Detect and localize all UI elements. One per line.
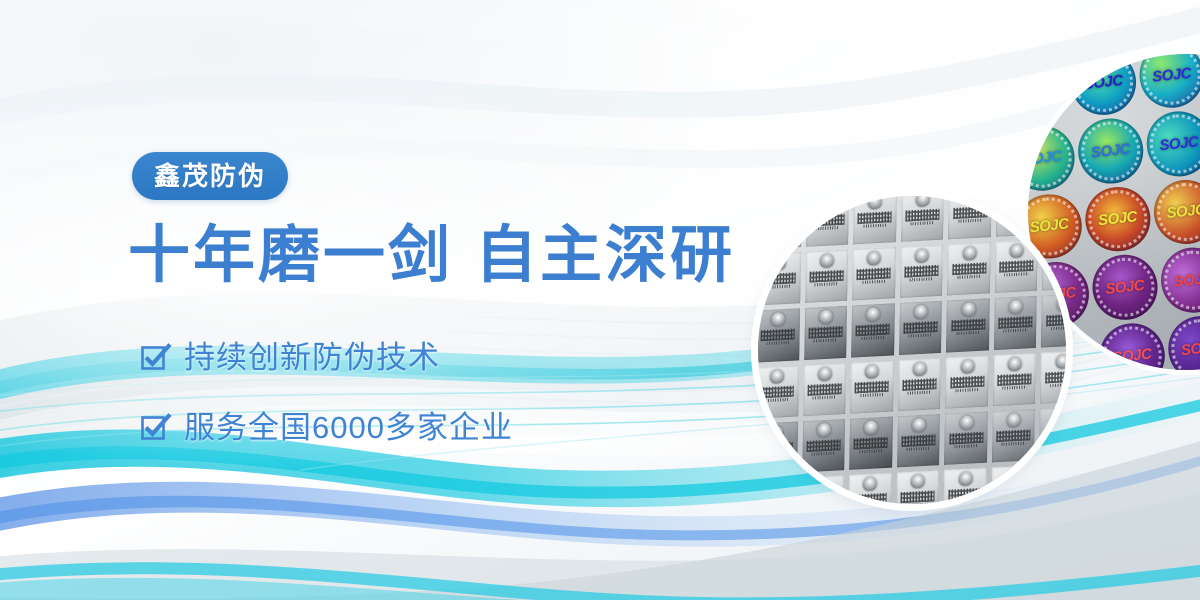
page-title: 十年磨一剑自主深研	[128, 222, 735, 290]
checkbox-check-icon	[140, 412, 170, 442]
headline-part-2: 自主深研	[475, 221, 735, 290]
list-item: 持续创新防伪技术	[140, 330, 513, 384]
hero-banner: SOJC SOJC SOJC SOJC SOJC SOJC SOJC SOJC …	[0, 0, 1200, 600]
list-item-label: 服务全国6000多家企业	[184, 412, 513, 443]
headline-part-1: 十年磨一剑	[128, 221, 453, 290]
list-item-label: 持续创新防伪技术	[184, 342, 440, 373]
list-item: 服务全国6000多家企业	[140, 400, 513, 454]
feature-list: 持续创新防伪技术 服务全国6000多家企业	[140, 330, 513, 454]
silver-label-photo: 银色防伪标签贴纸样品	[758, 196, 1066, 504]
silver-label-grid	[758, 196, 1066, 504]
brand-badge: 鑫茂防伪	[132, 152, 288, 200]
checkbox-check-icon	[140, 342, 170, 372]
banner-text-content: 鑫茂防伪 十年磨一剑自主深研 持续创新防伪技术	[0, 0, 760, 600]
brand-badge-label: 鑫茂防伪	[154, 163, 266, 189]
